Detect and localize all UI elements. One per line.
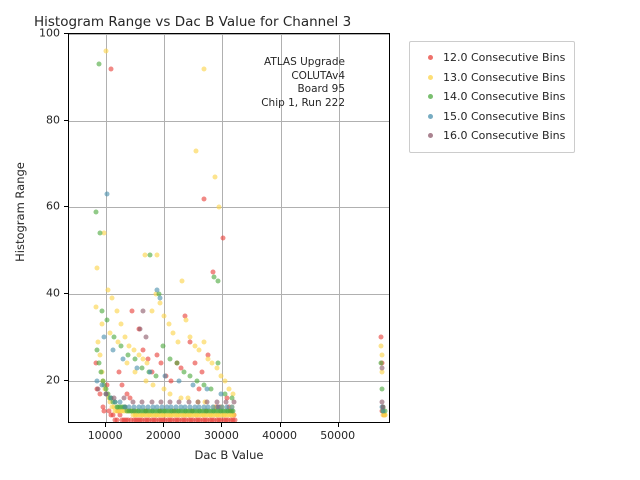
plot-annotation: ATLAS Upgrade COLUTAv4 Board 95 Chip 1, … [200,56,345,110]
data-point [196,400,201,405]
data-point [155,352,160,357]
data-point [204,387,209,392]
data-point [176,378,181,383]
data-point [380,409,385,414]
data-point [381,404,386,409]
data-point [162,313,167,318]
gridline-vertical [164,34,165,422]
data-point [112,396,117,401]
legend-item[interactable]: 15.0 Consecutive Bins [417,107,565,127]
data-point [100,383,105,388]
data-point [181,370,186,375]
data-point [184,318,189,323]
data-point [94,305,99,310]
data-point [188,374,193,379]
data-point [96,339,101,344]
data-point [158,296,163,301]
gridline-vertical [106,34,107,422]
data-point [125,361,130,366]
data-point [379,365,384,370]
gridline-horizontal [69,207,389,208]
data-point [148,370,153,375]
data-point [153,374,158,379]
data-point [174,361,179,366]
data-point [379,370,384,375]
data-point [114,309,119,314]
data-point [209,387,214,392]
data-point [98,370,103,375]
data-point [94,209,99,214]
legend-marker-icon [417,114,443,119]
legend-label: 14.0 Consecutive Bins [443,90,565,103]
data-point [192,361,197,366]
data-point [119,344,124,349]
legend-marker-icon [417,75,443,80]
data-point [168,400,173,405]
x-tick-label: 30000 [204,429,239,442]
data-point [150,383,155,388]
data-point [110,296,115,301]
gridline-horizontal [69,121,389,122]
y-tick-label: 60 [26,200,60,213]
legend-label: 12.0 Consecutive Bins [443,51,565,64]
data-point [100,322,105,327]
data-point [140,309,145,314]
x-tick [280,423,281,427]
data-point [233,417,238,422]
data-point [104,192,109,197]
data-point [149,309,154,314]
data-point [139,365,144,370]
data-point [161,387,166,392]
data-point [187,339,192,344]
data-point [380,352,385,357]
legend-item[interactable]: 13.0 Consecutive Bins [417,68,565,88]
x-tick [221,423,222,427]
legend-label: 16.0 Consecutive Bins [443,129,565,142]
legend-marker-icon [417,55,443,60]
data-point [194,149,199,154]
data-point [116,370,121,375]
data-point [196,387,201,392]
y-tick-label: 40 [26,287,60,300]
gridline-horizontal [69,381,389,382]
data-point [177,400,182,405]
x-tick [338,423,339,427]
data-point [160,344,165,349]
data-point [123,335,128,340]
data-point [199,370,204,375]
data-point [94,266,99,271]
data-point [94,348,99,353]
data-point [214,400,219,405]
y-tick-label: 20 [26,373,60,386]
data-point [140,348,145,353]
data-point [221,235,226,240]
legend-marker-icon [417,133,443,138]
data-point [144,378,149,383]
x-tick-label: 20000 [146,429,181,442]
data-point [120,383,125,388]
legend-item[interactable]: 16.0 Consecutive Bins [417,126,565,146]
data-point [201,339,206,344]
y-tick [64,293,68,294]
data-point [223,400,228,405]
y-tick [64,120,68,121]
x-tick [163,423,164,427]
data-point [158,300,163,305]
data-point [222,378,227,383]
data-point [147,253,152,258]
data-point [380,387,385,392]
data-point [126,352,131,357]
y-tick [64,206,68,207]
data-point [140,400,145,405]
gridline-horizontal [69,294,389,295]
data-point [205,400,210,405]
data-point [232,400,237,405]
data-point [216,361,221,366]
y-axis-label: Histogram Range [13,112,27,312]
chart-title: Histogram Range vs Dac B Value for Chann… [34,14,351,30]
data-point [202,196,207,201]
data-point [110,348,115,353]
data-point [103,391,108,396]
data-point [130,309,135,314]
data-point [118,322,123,327]
legend-marker-icon [417,94,443,99]
data-point [191,383,196,388]
data-point [105,287,110,292]
data-point [96,62,101,67]
data-point [155,253,160,258]
y-tick-label: 100 [26,27,60,40]
data-point [212,175,217,180]
data-point [97,352,102,357]
data-point [171,331,176,336]
data-point [167,357,172,362]
data-point [215,279,220,284]
x-tick-label: 10000 [88,429,123,442]
y-tick [64,380,68,381]
data-point [378,335,383,340]
data-point [132,357,137,362]
data-point [197,348,202,353]
x-tick-label: 40000 [262,429,297,442]
x-tick [105,423,106,427]
data-point [159,361,164,366]
data-point [144,335,149,340]
legend-label: 15.0 Consecutive Bins [443,110,565,123]
data-point [229,404,234,409]
y-tick [64,33,68,34]
data-point [179,279,184,284]
legend-item[interactable]: 14.0 Consecutive Bins [417,87,565,107]
data-point [166,322,171,327]
data-point [162,374,167,379]
data-point [98,231,103,236]
data-point [188,335,193,340]
data-point [186,400,191,405]
gridline-horizontal [69,34,389,35]
data-point [379,344,384,349]
data-point [169,378,174,383]
data-point [149,400,154,405]
data-point [135,365,140,370]
data-point [130,400,135,405]
data-point [103,49,108,54]
data-point [214,365,219,370]
data-point [101,335,106,340]
data-point [195,378,200,383]
data-point [158,400,163,405]
legend: 12.0 Consecutive Bins13.0 Consecutive Bi… [409,41,575,153]
data-point [99,309,104,314]
data-point [219,391,224,396]
data-point [133,370,138,375]
chart-root: Histogram Range vs Dac B Value for Chann… [0,0,640,480]
legend-item[interactable]: 12.0 Consecutive Bins [417,48,565,68]
data-point [231,409,236,414]
x-tick-label: 50000 [320,429,355,442]
data-point [216,205,221,210]
data-point [168,391,173,396]
data-point [105,318,110,323]
data-point [121,357,126,362]
data-point [145,361,150,366]
data-point [383,413,388,418]
data-point [97,361,102,366]
data-point [96,387,101,392]
data-point [175,339,180,344]
x-axis-label: Dac B Value [68,448,390,462]
data-point [154,287,159,292]
y-tick-label: 80 [26,113,60,126]
data-point [108,66,113,71]
data-point [137,326,142,331]
data-point [112,335,117,340]
data-point [121,396,126,401]
legend-label: 13.0 Consecutive Bins [443,71,565,84]
data-point [232,413,237,418]
